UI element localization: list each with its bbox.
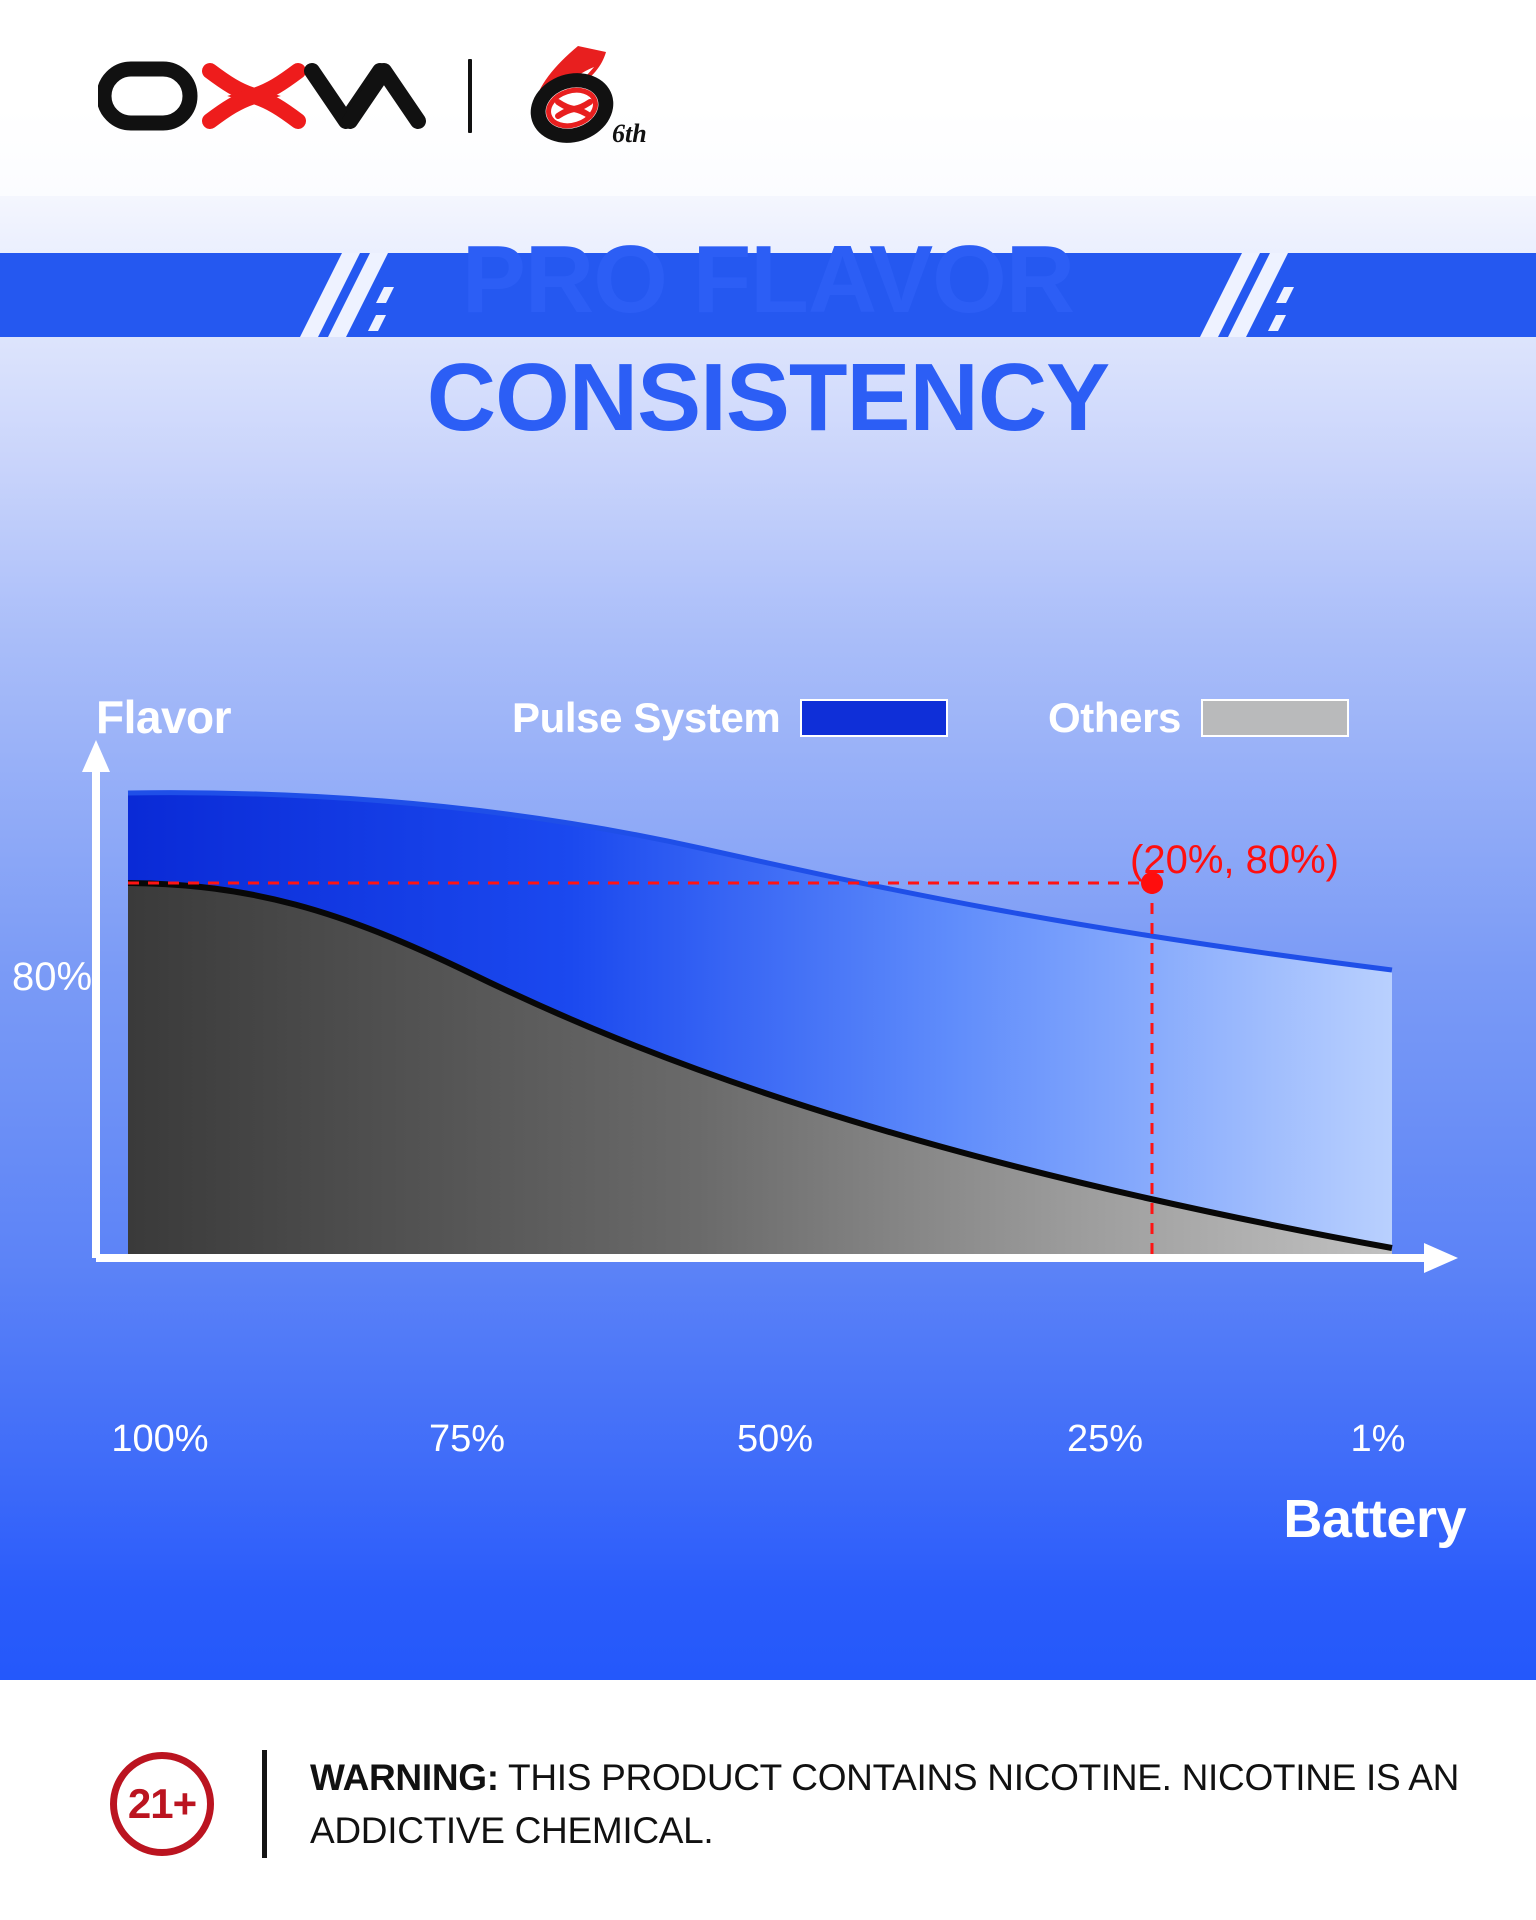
brand-divider-icon — [468, 59, 472, 133]
header-band: 6th — [0, 0, 1536, 196]
x-axis-title: Battery — [1283, 1488, 1466, 1550]
annotation-label: (20%, 80%) — [1130, 838, 1339, 883]
x-axis-tick-100: 100% — [111, 1418, 208, 1461]
warning-text: WARNING: THIS PRODUCT CONTAINS NICOTINE.… — [310, 1752, 1460, 1857]
legend-label-pulse-system: Pulse System — [512, 694, 780, 742]
title-line-2: CONSISTENCY — [0, 350, 1536, 446]
x-axis-ticks: 100% 75% 50% 25% 1% — [0, 1418, 1536, 1468]
poster-title: PRO FLAVOR CONSISTENCY — [0, 232, 1536, 446]
legend-swatch-pulse-system — [800, 699, 948, 737]
x-axis-tick-50: 50% — [737, 1418, 813, 1461]
age-restriction-badge: 21+ — [110, 1752, 214, 1856]
warning-divider-icon — [262, 1750, 267, 1858]
x-axis-tick-25: 25% — [1067, 1418, 1143, 1461]
legend-item-others: Others — [1048, 694, 1349, 742]
x-axis-tick-1: 1% — [1351, 1418, 1406, 1461]
legend-label-others: Others — [1048, 694, 1181, 742]
y-axis-tick-80: 80% — [12, 955, 92, 1000]
y-axis-arrowhead-icon — [82, 740, 110, 772]
legend-item-pulse-system: Pulse System — [512, 694, 948, 742]
title-line-1: PRO FLAVOR — [0, 232, 1536, 328]
poster-canvas: 6th — [0, 0, 1536, 1920]
x-axis-arrowhead-icon — [1424, 1243, 1458, 1273]
anniversary-6th-logo-icon: 6th — [508, 42, 648, 150]
age-restriction-label: 21+ — [128, 1780, 196, 1828]
warning-prefix: WARNING: — [310, 1757, 499, 1798]
legend-swatch-others — [1201, 699, 1349, 737]
nicotine-warning-footer: 21+ WARNING: THIS PRODUCT CONTAINS NICOT… — [0, 1680, 1536, 1920]
anniversary-ordinal-suffix: 6th — [612, 119, 647, 148]
brand-logo-row: 6th — [98, 42, 648, 150]
chart-plot-area — [0, 738, 1536, 1330]
y-axis-title: Flavor — [96, 690, 231, 744]
oxva-wordmark-icon — [98, 53, 428, 139]
flavor-consistency-chart: Flavor Pulse System Others — [0, 690, 1536, 1330]
x-axis-tick-75: 75% — [429, 1418, 505, 1461]
